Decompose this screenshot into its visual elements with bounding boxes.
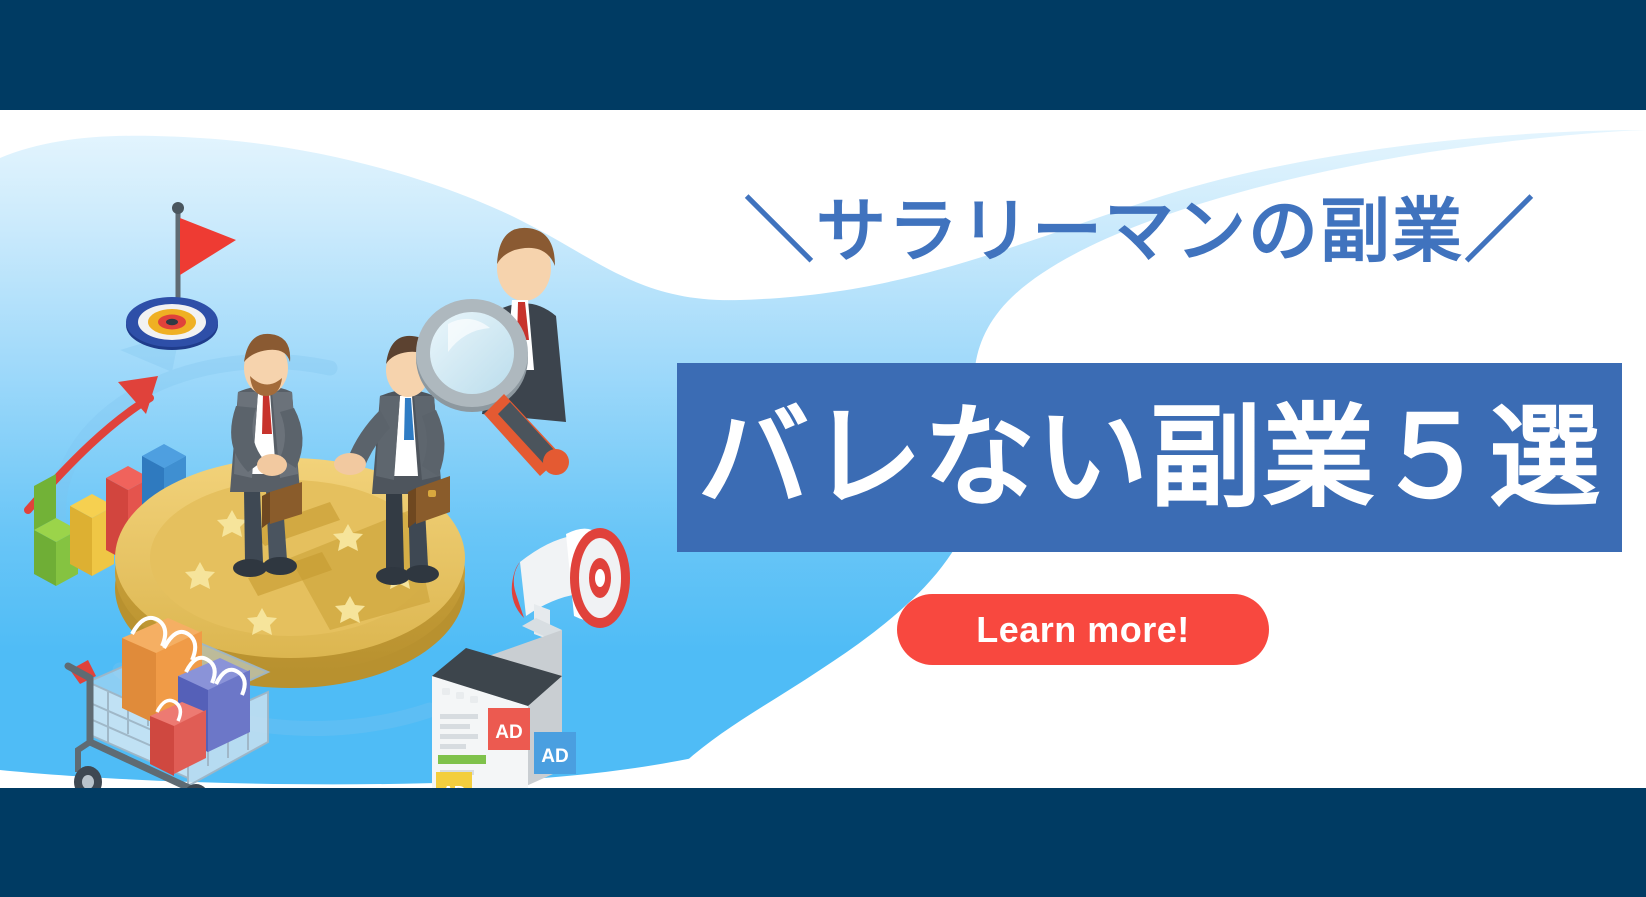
business-illustration: AD AD AD bbox=[0, 110, 700, 788]
headline-text: ＼サラリーマンの副業／ bbox=[700, 186, 1580, 276]
ad-block-red: AD bbox=[488, 708, 530, 750]
flag-and-target-icon bbox=[126, 202, 236, 350]
page-title: バレない副業５選 bbox=[698, 402, 1602, 514]
title-box: バレない副業５選 bbox=[677, 363, 1622, 552]
ad-browser-window: AD AD AD bbox=[432, 630, 576, 788]
svg-text:AD: AD bbox=[541, 746, 568, 767]
learn-more-button[interactable]: Learn more! bbox=[897, 594, 1269, 665]
svg-text:AD: AD bbox=[495, 722, 522, 743]
ad-block-blue: AD bbox=[534, 732, 576, 774]
bottom-navy-bar bbox=[0, 788, 1646, 897]
businessman-left bbox=[230, 334, 303, 602]
megaphone-icon bbox=[512, 528, 630, 640]
learn-more-label: Learn more! bbox=[976, 609, 1190, 651]
promotional-banner: AD AD AD ＼サラリーマンの副業／ バレない副業５選 Learn more… bbox=[0, 0, 1646, 897]
top-navy-bar bbox=[0, 0, 1646, 110]
ad-block-yellow: AD bbox=[436, 772, 472, 788]
